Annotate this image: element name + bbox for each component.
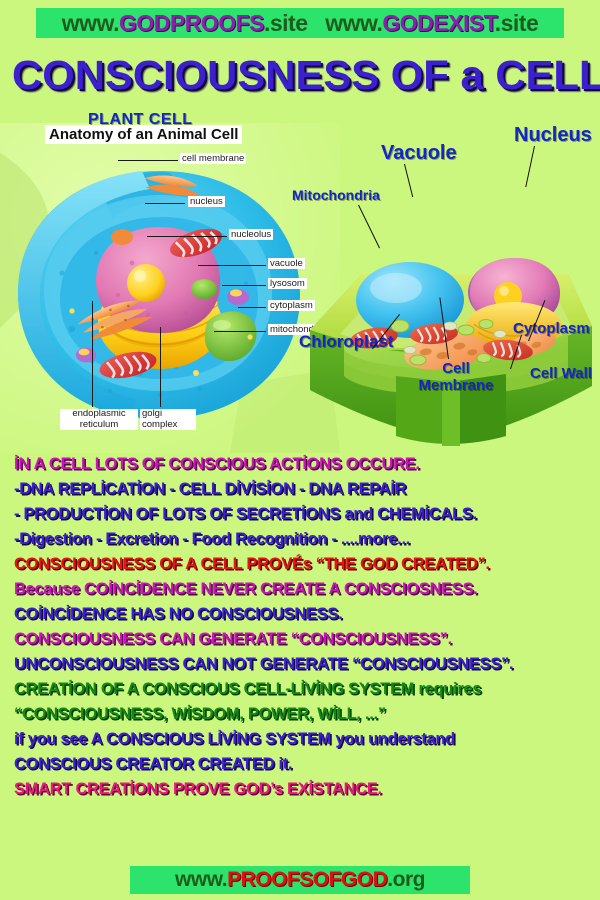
top-url2-prefix: www. [325, 10, 382, 36]
leader-er [92, 301, 93, 407]
plant-label-mitochondria: Mitochondria [292, 187, 380, 203]
body-line-9: UNCONSCIOUSNESS CAN NOT GENERATE “CONSCI… [14, 652, 594, 677]
bottom-url-suffix: .org [387, 868, 425, 891]
body-line-2: -DNA REPLİCATİON - CELL DİVİSİON - DNA R… [14, 477, 594, 502]
top-url1-prefix: www. [62, 10, 119, 36]
plant-label-cell-membrane-line1: Cell [409, 360, 503, 377]
bottom-url-banner: www.PROOFSOFGOD.org [130, 866, 470, 894]
top-url1-name: GODPROOFS [119, 10, 264, 36]
plant-label-cytoplasm: Cytoplasm [513, 320, 590, 337]
banner-gap [308, 10, 326, 36]
bottom-url-name: PROOFSOFGOD [227, 868, 387, 891]
body-line-5: CONSCIOUSNESS OF A CELL PROVÉs “THE GOD … [14, 552, 594, 577]
plant-label-vacuole: Vacuole [381, 142, 457, 165]
body-line-11: “CONSCIOUSNESS, WİSDOM, POWER, WİLL, ...… [14, 702, 594, 727]
body-line-13: CONSCIOUS CREATOR CREATED it. [14, 752, 594, 777]
label-nucleolus: nucleolus [229, 229, 273, 240]
body-line-10: CREATİON OF A CONSCIOUS CELL-LİVİNG SYST… [14, 677, 594, 702]
label-er-line2: reticulum [62, 420, 136, 431]
plant-label-cell-membrane: Cell Membrane [409, 360, 503, 394]
plant-label-cell-wall: Cell Wall [530, 365, 592, 382]
leader-plant-nucleus [525, 146, 535, 187]
body-line-4: -Digestion - Excretion - Food Recognitio… [14, 527, 594, 552]
top-url-banner: www.GODPROOFS.site www.GODEXIST.site [36, 8, 564, 38]
cell-diagram-region: Anatomy of an Animal Cell cell membrane … [0, 105, 600, 455]
top-url2-name: GODEXIST [382, 10, 494, 36]
leader-plant-vacuole [404, 164, 413, 197]
body-line-14: SMART CREATİONS PROVE GOD’s EXİSTANCE. [14, 777, 594, 802]
body-line-12: if you see A CONSCIOUS LİVİNG SYSTEM you… [14, 727, 594, 752]
body-text-block: İN A CELL LOTS OF CONSCIOUS ACTİONS OCCU… [14, 452, 594, 802]
top-url2-suffix: .site [495, 10, 539, 36]
leader-nucleus [145, 203, 185, 204]
label-endoplasmic-reticulum: endoplasmic reticulum [60, 409, 138, 430]
body-line-3: - PRODUCTİON OF LOTS OF SECRETİONS and C… [14, 502, 594, 527]
leader-golgi [160, 327, 161, 407]
bottom-url-prefix: www. [175, 868, 227, 891]
label-cell-membrane: cell membrane [180, 153, 246, 164]
leader-cell-membrane [118, 160, 178, 161]
plant-label-cell-membrane-line2: Membrane [409, 377, 503, 394]
body-line-7: COİNCİDENCE HAS NO CONSCIOUSNESS. [14, 602, 594, 627]
leader-mitochondrion [214, 331, 266, 332]
body-line-6: Because COİNCİDENCE NEVER CREATE A CONSC… [14, 577, 594, 602]
page-title: CONSCIOUSNESS OF a CELL [12, 52, 600, 99]
label-golgi-line2: complex [142, 420, 194, 431]
label-nucleus: nucleus [188, 196, 225, 207]
leader-cytoplasm [238, 307, 266, 308]
label-golgi-line1: golgi [142, 409, 194, 420]
body-line-1: İN A CELL LOTS OF CONSCIOUS ACTİONS OCCU… [14, 452, 594, 477]
leader-lysosom [222, 285, 266, 286]
label-er-line1: endoplasmic [62, 409, 136, 420]
top-url1-suffix: .site [264, 10, 308, 36]
body-line-8: CONSCIOUSNESS CAN GENERATE “CONSCIOUSNES… [14, 627, 594, 652]
leader-nucleolus [147, 236, 227, 237]
plant-label-nucleus: Nucleus [514, 124, 592, 147]
plant-label-chloroplast: Chloroplast [299, 332, 393, 352]
leader-vacuole [198, 265, 266, 266]
label-golgi-complex: golgi complex [140, 409, 196, 430]
plant-cell-title: PLANT CELL [88, 111, 193, 129]
